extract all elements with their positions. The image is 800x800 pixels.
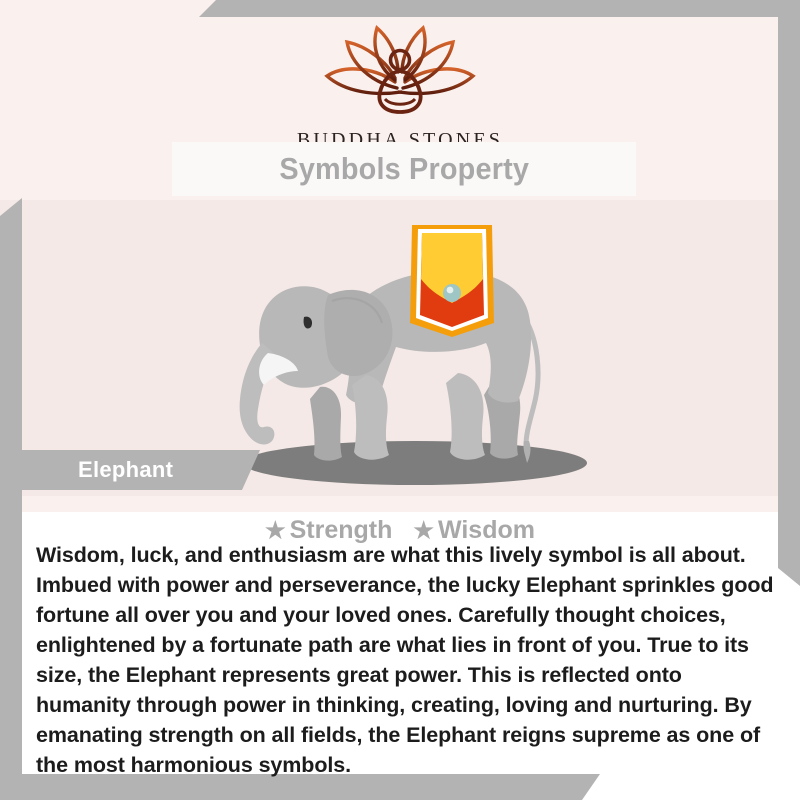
symbol-name-label: Elephant [78, 457, 173, 483]
symbol-property-card: BUDDHA STONES Symbols Property [0, 0, 800, 800]
divider-strip [0, 496, 800, 512]
saddle-gem [443, 284, 461, 302]
page-title: Symbols Property [279, 151, 529, 187]
symbol-name-tag: Elephant [22, 450, 260, 490]
elephant-saddle [410, 225, 494, 337]
brand-logo: BUDDHA STONES [0, 20, 800, 152]
frame-bar-left [0, 198, 22, 800]
symbol-description: Wisdom, luck, and enthusiasm are what th… [36, 540, 778, 780]
elephant-shadow [243, 441, 587, 485]
page-title-band: Symbols Property [172, 142, 636, 196]
lotus-meditation-icon [305, 20, 495, 125]
elephant-illustration [200, 205, 620, 495]
